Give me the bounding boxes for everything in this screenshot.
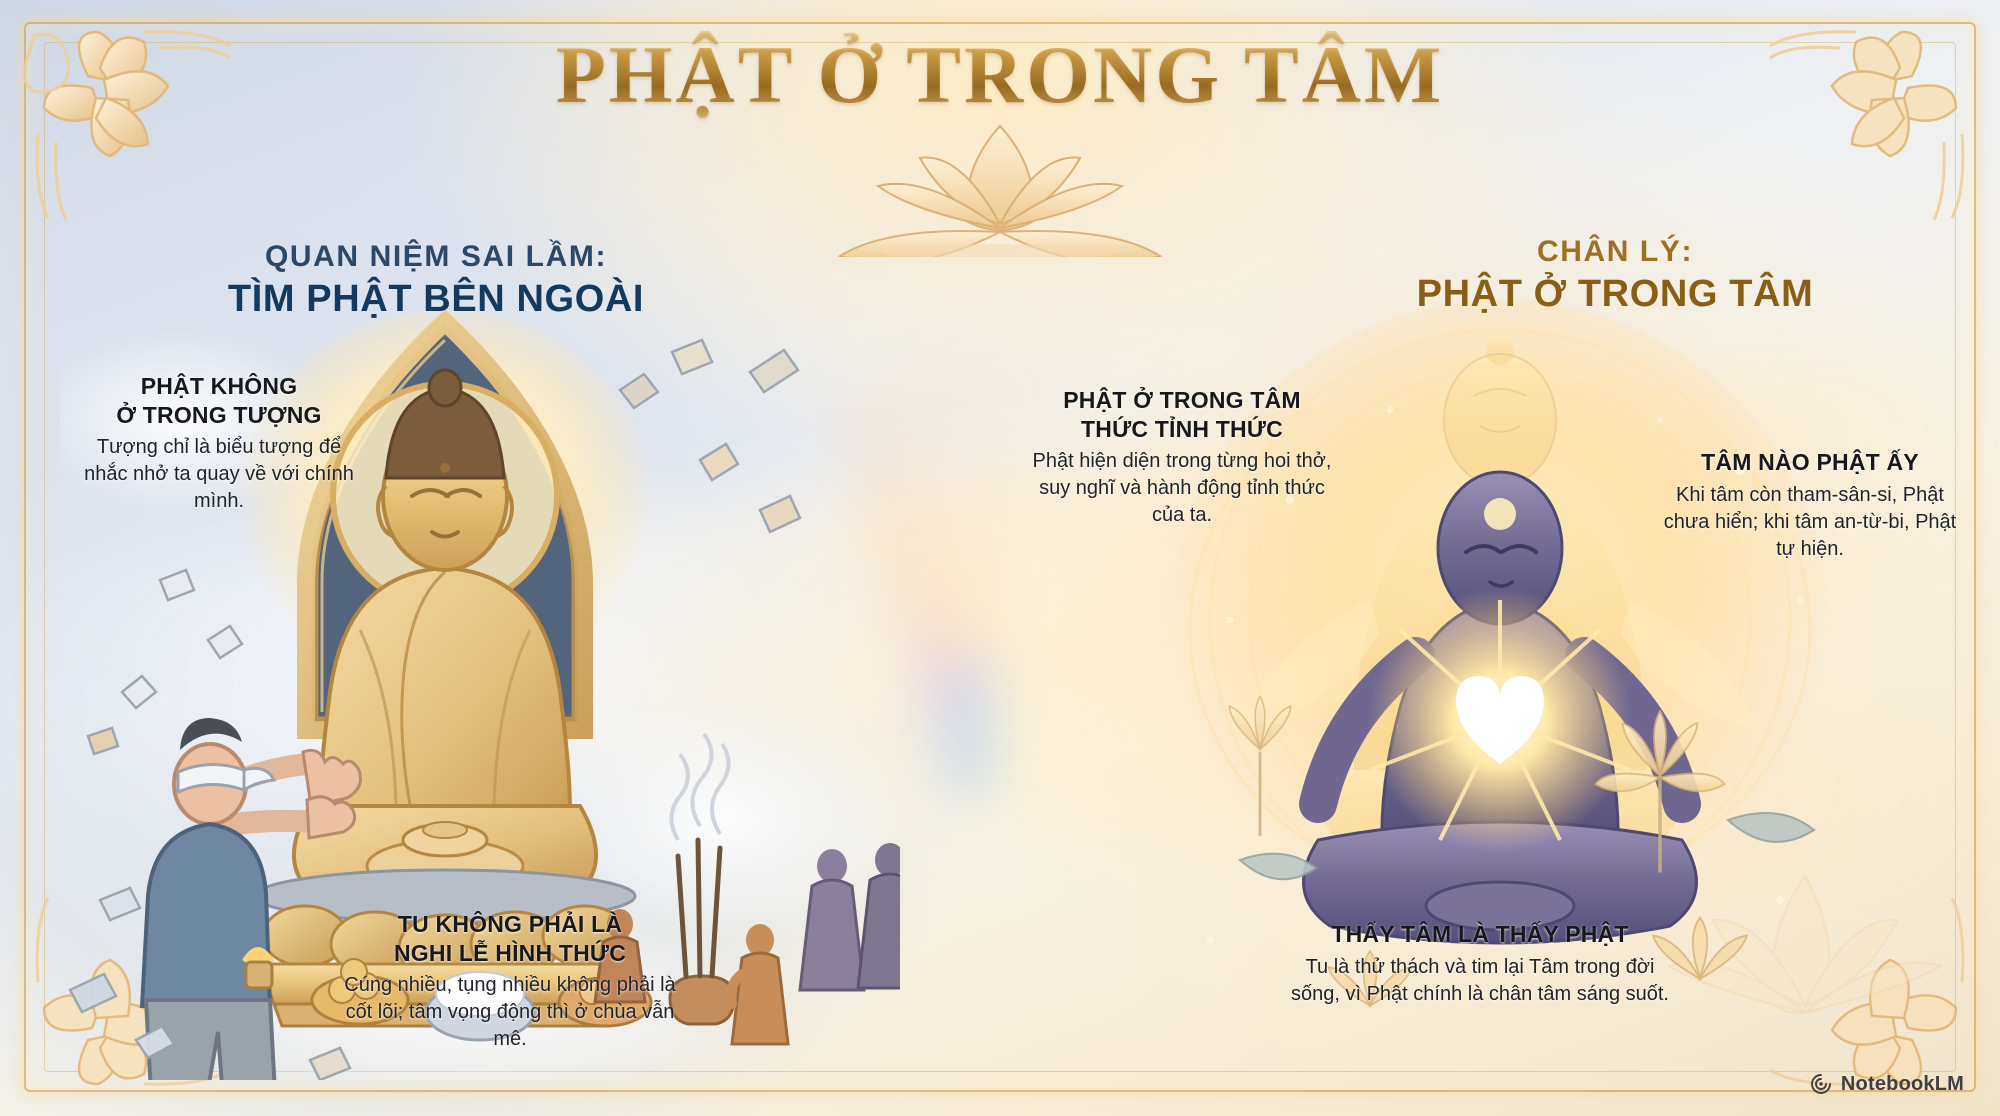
callout-body: Tượng chỉ là biểu tượng để nhắc nhở ta q… — [78, 434, 360, 515]
callout-tam-nao-phat-ay: TÂM NÀO PHẬT ẤY Khi tâm còn tham-sân-si,… — [1660, 448, 1960, 563]
callout-phat-o-trong-tam-thuc-tinh-thuc: PHẬT Ở TRONG TÂM THỨC TỈNH THỨC Phật hiệ… — [1032, 386, 1332, 529]
callout-body: Khi tâm còn tham-sân-si, Phật chưa hiển;… — [1660, 482, 1960, 563]
callout-body: Tu là thử thách và tim lại Tâm trong đời… — [1290, 954, 1670, 1008]
section-title-left: TÌM PHẬT BÊN NGOÀI — [226, 278, 646, 321]
notebooklm-spiral-icon — [1809, 1072, 1833, 1096]
callout-phat-khong-o-trong-tuong: PHẬT KHÔNG Ở TRONG TƯỢNG Tượng chỉ là bi… — [78, 372, 360, 515]
callout-title: TÂM NÀO PHẬT ẤY — [1660, 448, 1960, 477]
callout-tu-khong-phai-la-nghi-le-hinh-thuc: TU KHÔNG PHẢI LÀ NGHI LỄ HÌNH THỨC Cúng … — [330, 910, 690, 1053]
callout-title-line1: TU KHÔNG PHẢI LÀ — [398, 911, 622, 937]
section-heading-right: CHÂN LÝ: PHẬT Ở TRONG TÂM — [1400, 235, 1830, 315]
callout-title: PHẬT KHÔNG Ở TRONG TƯỢNG — [78, 372, 360, 429]
callout-title-line2: THỨC TỈNH THỨC — [1081, 416, 1283, 442]
callout-title-line1: PHẬT KHÔNG — [141, 373, 298, 399]
callout-title-line1: THẤY TÂM LÀ THẤY PHẬT — [1331, 921, 1628, 947]
callout-body: Phật hiện diện trong từng hoi thở, suy n… — [1032, 448, 1332, 529]
watermark-label: NotebookLM — [1841, 1073, 1964, 1096]
callout-body: Cúng nhiều, tụng nhiều không phải là cốt… — [330, 972, 690, 1053]
notebooklm-watermark: NotebookLM — [1809, 1072, 1964, 1096]
callout-title-line1: PHẬT Ở TRONG TÂM — [1063, 387, 1300, 413]
section-heading-left: QUAN NIỆM SAI LẦM: TÌM PHẬT BÊN NGOÀI — [226, 240, 646, 320]
callout-title-line2: Ở TRONG TƯỢNG — [116, 402, 321, 428]
section-title-right: PHẬT Ở TRONG TÂM — [1400, 273, 1830, 316]
callout-title: TU KHÔNG PHẢI LÀ NGHI LỄ HÌNH THỨC — [330, 910, 690, 967]
infographic-poster: PHẬT Ở TRONG TÂM QUAN NIỆM SAI LẦM: TÌM … — [0, 0, 2000, 1116]
callout-title: THẤY TÂM LÀ THẤY PHẬT — [1290, 920, 1670, 949]
callout-thay-tam-la-thay-phat: THẤY TÂM LÀ THẤY PHẬT Tu là thử thách và… — [1290, 920, 1670, 1008]
page-title: PHẬT Ở TRONG TÂM — [0, 28, 2000, 122]
callout-title-line1: TÂM NÀO PHẬT ẤY — [1701, 449, 1919, 475]
header-lotus-icon — [785, 112, 1215, 257]
section-kicker-right: CHÂN LÝ: — [1400, 235, 1830, 269]
callout-title-line2: NGHI LỄ HÌNH THỨC — [394, 940, 626, 966]
section-kicker-left: QUAN NIỆM SAI LẦM: — [226, 240, 646, 274]
callout-title: PHẬT Ở TRONG TÂM THỨC TỈNH THỨC — [1032, 386, 1332, 443]
